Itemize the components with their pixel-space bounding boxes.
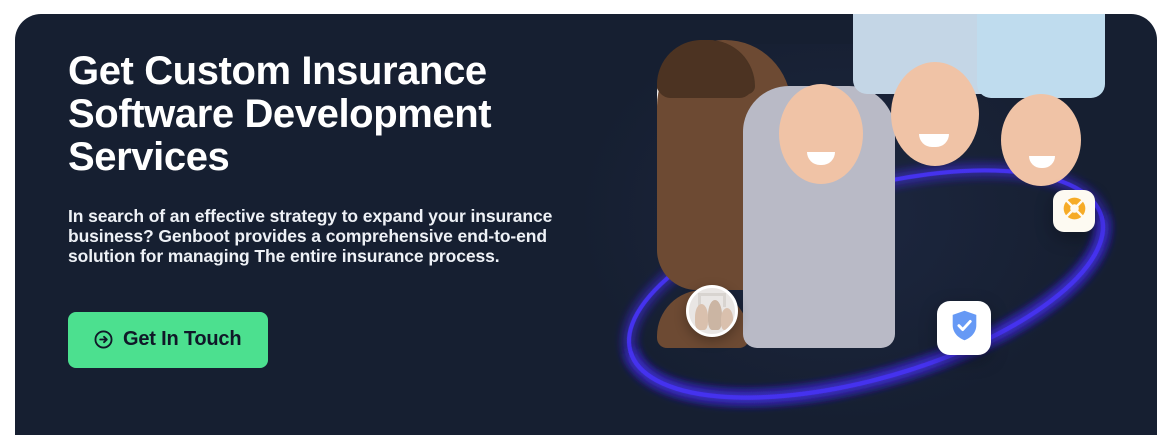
cta-container: Get In Touch: [68, 312, 628, 368]
hero-copy-block: Get Custom Insurance Software Developmen…: [68, 50, 628, 368]
page-title: Get Custom Insurance Software Developmen…: [68, 50, 628, 179]
life-ring-icon: [1062, 196, 1087, 226]
mini-person: [695, 304, 708, 330]
hero-visual: [575, 14, 1157, 435]
hero-description: In search of an effective strategy to ex…: [68, 206, 588, 266]
family-home-photo-badge[interactable]: [686, 285, 738, 337]
shield-check-badge[interactable]: [937, 301, 991, 355]
mini-person: [708, 300, 722, 330]
arrow-right-circle-icon: [93, 329, 114, 350]
get-in-touch-label: Get In Touch: [123, 328, 241, 351]
support-ring-badge[interactable]: [1053, 190, 1095, 232]
mini-person: [721, 308, 733, 330]
shield-check-icon: [949, 309, 980, 347]
get-in-touch-button[interactable]: Get In Touch: [68, 312, 268, 368]
hero-banner: Get Custom Insurance Software Developmen…: [15, 14, 1157, 435]
